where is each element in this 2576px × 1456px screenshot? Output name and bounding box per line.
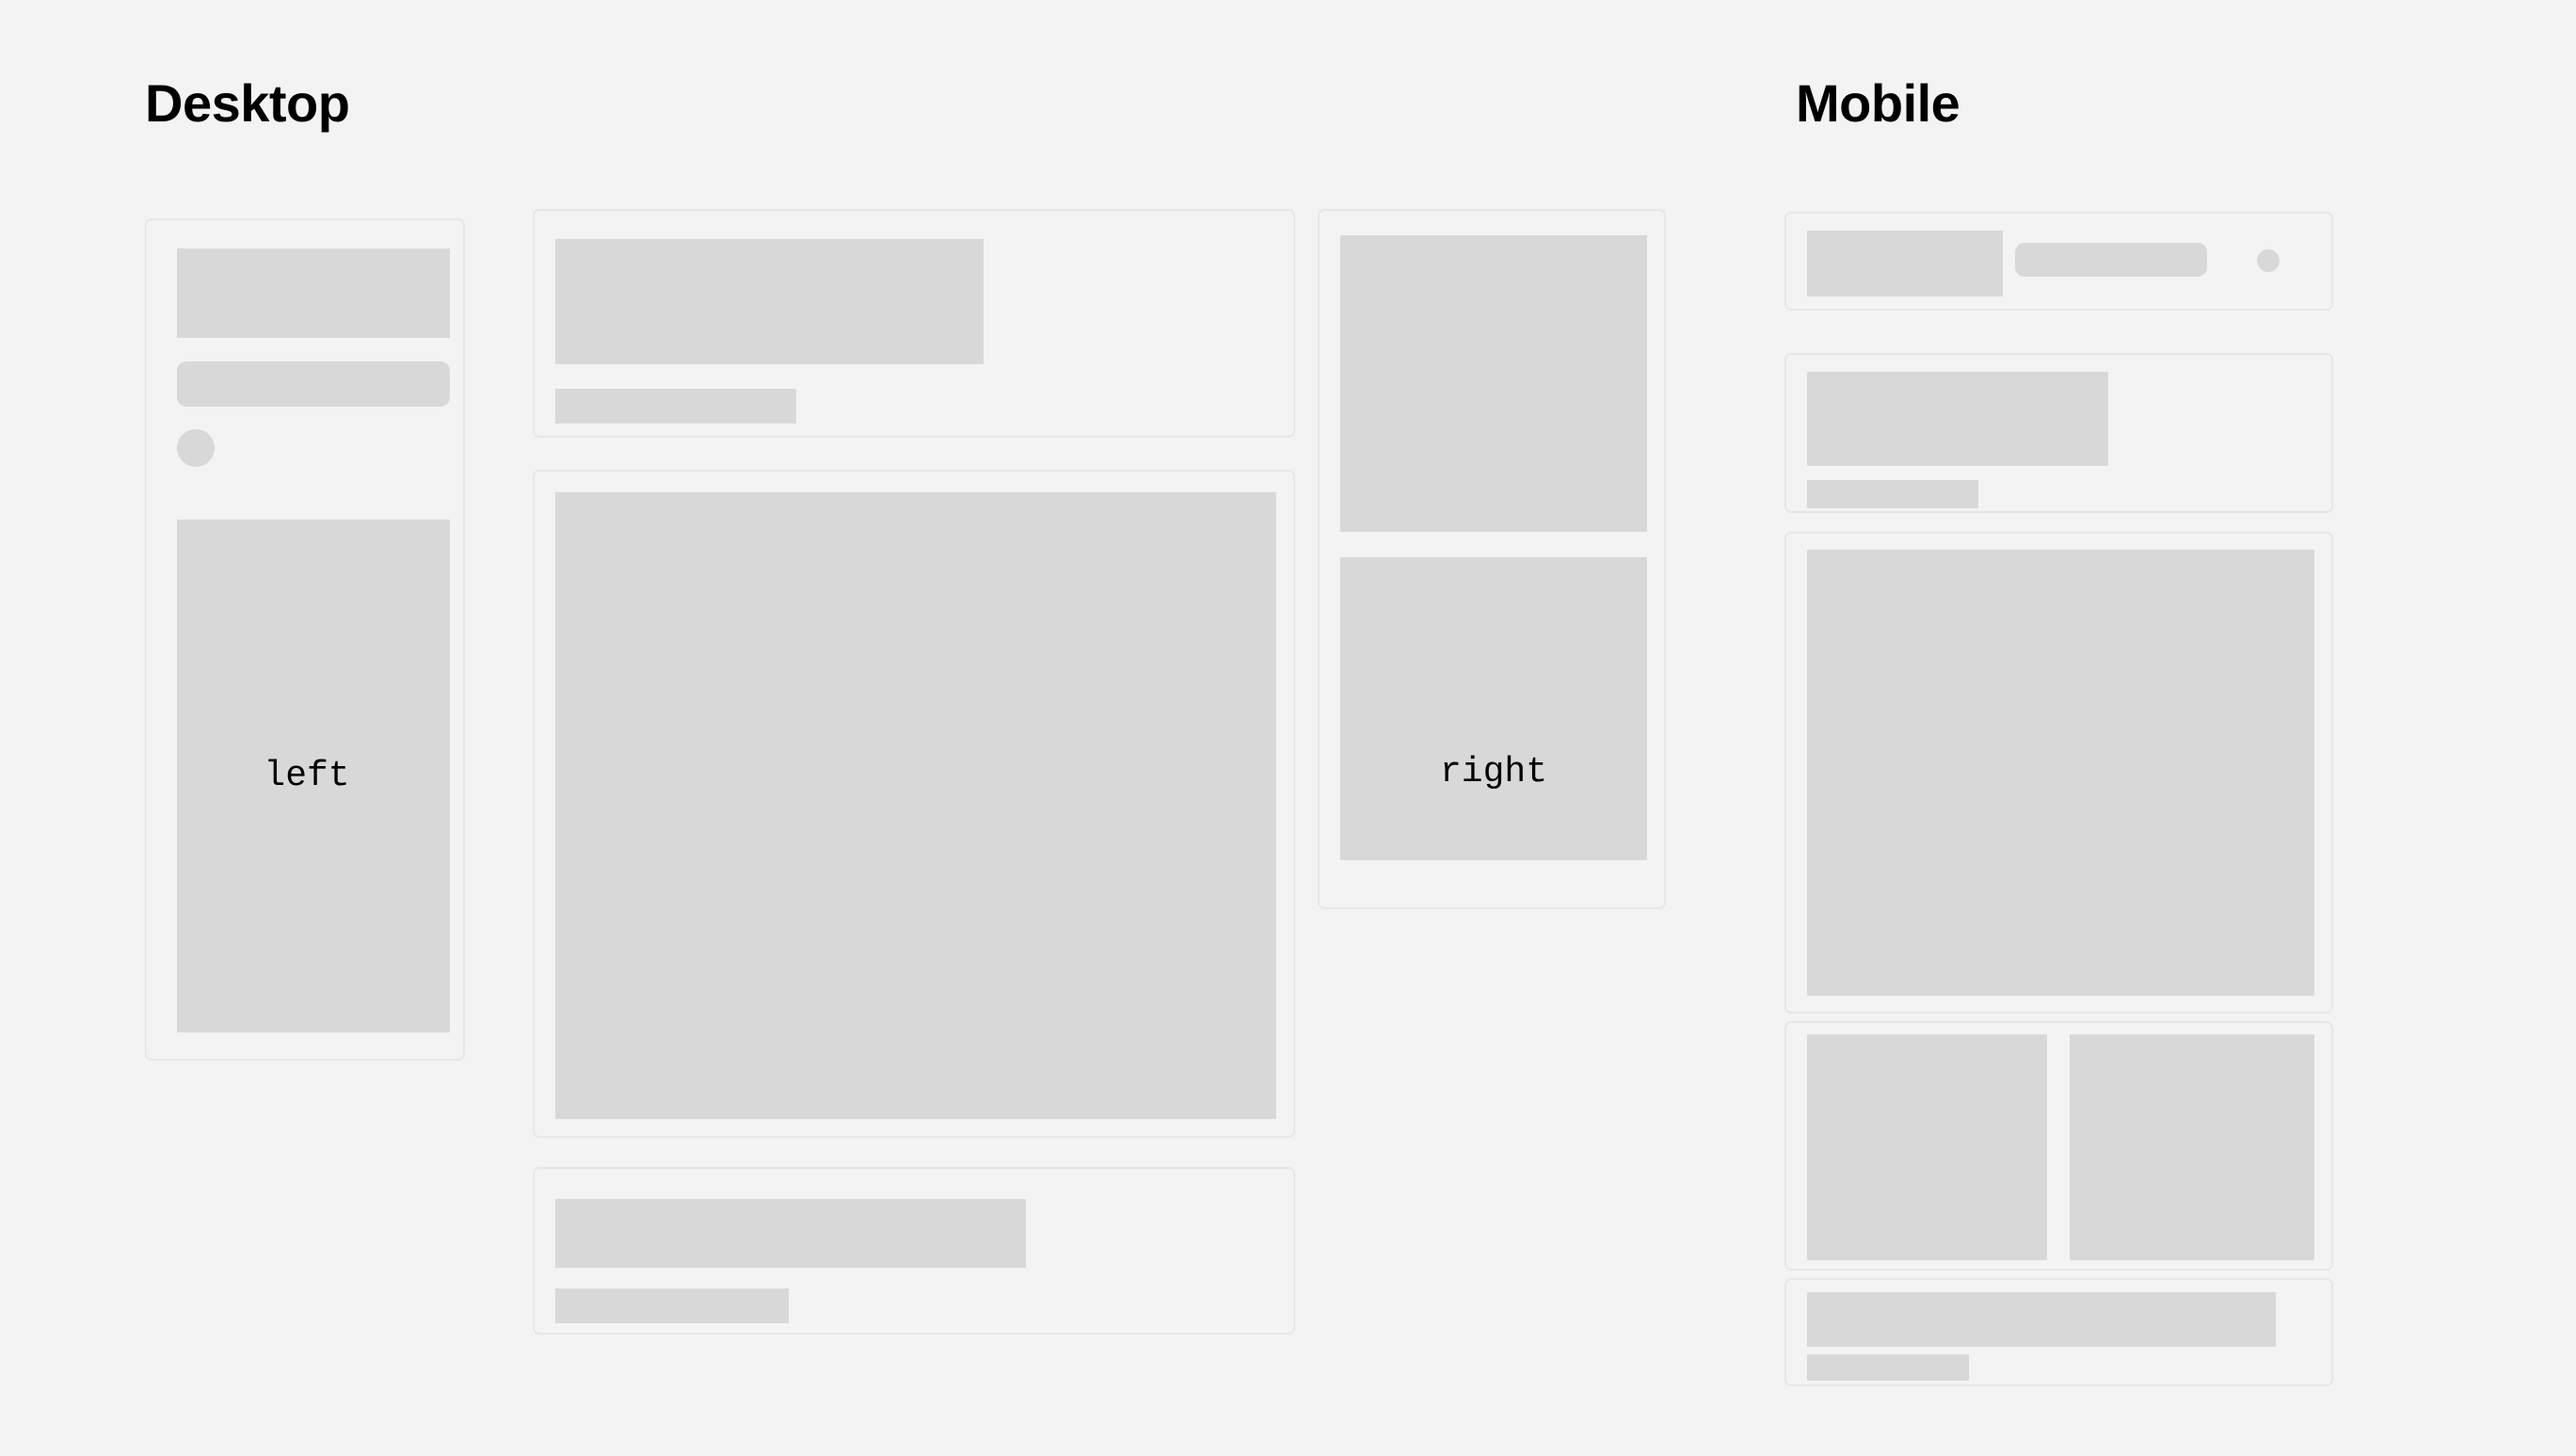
skeleton-bar-short (1807, 1354, 1969, 1381)
skeleton-bar-short (1807, 480, 1978, 508)
mobile-before-body-panel[interactable]: beforeBody (1784, 353, 2333, 513)
skeleton-avatar-circle (2257, 249, 2280, 272)
desktop-right-panel[interactable]: right (1318, 209, 1666, 909)
skeleton-avatar-circle (177, 429, 215, 467)
mobile-right-panel[interactable]: right (1784, 1021, 2333, 1271)
skeleton-block-lower (1340, 557, 1647, 860)
skeleton-block-right-half (2070, 1034, 2314, 1260)
mobile-left-panel[interactable]: left (1784, 212, 2333, 311)
mobile-footer-panel[interactable]: footer (1784, 1278, 2333, 1386)
skeleton-bar-pill (2015, 243, 2207, 277)
skeleton-block-wide (1807, 1292, 2276, 1347)
desktop-before-body-panel[interactable]: beforeBody (533, 209, 1295, 438)
skeleton-block-wide (555, 1199, 1026, 1268)
skeleton-bar-short (555, 1288, 789, 1323)
skeleton-block-rect (1807, 231, 2003, 296)
skeleton-block-wide (1807, 372, 2108, 466)
skeleton-block-tall (177, 248, 450, 338)
skeleton-block-left-half (1807, 1034, 2047, 1260)
skeleton-block-large (1807, 550, 2314, 996)
desktop-section-title: Desktop (145, 77, 349, 130)
skeleton-block-wide (555, 239, 984, 364)
skeleton-left-region (177, 520, 450, 1032)
skeleton-block-large (555, 492, 1276, 1119)
desktop-page-body-panel[interactable]: pageBody (533, 470, 1295, 1138)
mobile-page-body-panel[interactable]: pageBody (1784, 532, 2333, 1014)
desktop-left-panel[interactable]: left (145, 218, 465, 1061)
skeleton-bar-pill (177, 361, 450, 407)
mobile-section-title: Mobile (1796, 77, 1960, 130)
skeleton-block-upper (1340, 235, 1647, 532)
skeleton-bar-short (555, 389, 796, 424)
desktop-footer-panel[interactable]: footer (533, 1167, 1295, 1335)
wireframe-preview-canvas: Desktop left beforeBody pageBody right f… (0, 0, 2576, 1456)
